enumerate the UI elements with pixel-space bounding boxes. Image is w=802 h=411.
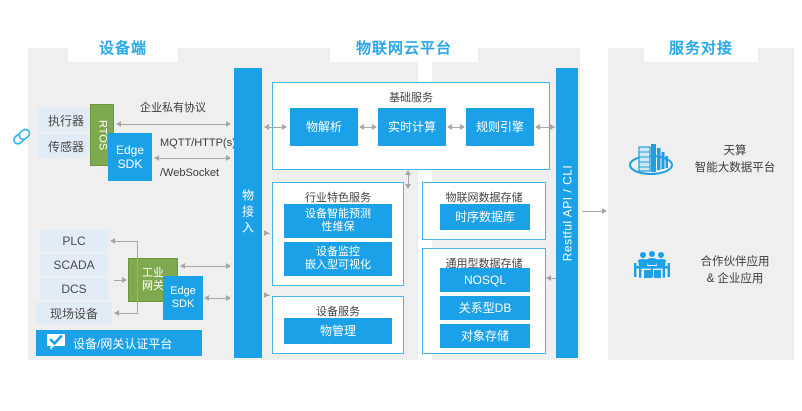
source-dcs[interactable]: DCS xyxy=(40,278,108,300)
edge-sdk-bottom-line1: Edge xyxy=(170,285,196,298)
protocol-mqtt-text: MQTT/HTTP(s) xyxy=(160,137,236,149)
bigdata-server-icon xyxy=(627,139,675,181)
panel-title-platform: 物联网云平台 xyxy=(330,32,478,62)
protocol-websocket-text: /WebSocket xyxy=(160,167,219,179)
partners-meeting-icon xyxy=(630,250,674,284)
line-mqtt-protocol xyxy=(156,158,230,159)
architecture-diagram: 设备端 物联网云平台 服务对接 执行器 传感器 RTOS Edge SDK 企业… xyxy=(0,0,802,411)
line-gateway-upper xyxy=(182,266,230,267)
general-storage-item-rdb[interactable]: 关系型DB xyxy=(440,296,530,320)
spacer-platform-service xyxy=(580,40,608,370)
basic-service-item-parse[interactable]: 物解析 xyxy=(290,108,358,146)
line-bracket-vertical xyxy=(137,241,138,314)
arrow-gateway-lower-left xyxy=(204,295,209,301)
source-field-device-label: 现场设备 xyxy=(50,305,98,322)
industry-service-item-monitor[interactable]: 设备监控 嵌入型可视化 xyxy=(284,242,392,276)
arrow-basic-to-lower-up xyxy=(405,170,411,175)
edge-sdk-top-line2: SDK xyxy=(118,157,143,171)
basic-service-item-realtime-label: 实时计算 xyxy=(388,120,436,134)
rtos-label: RTOS xyxy=(96,120,109,150)
panel-title-service: 服务对接 xyxy=(644,32,758,62)
ingress-bar-label: 物接入 xyxy=(240,189,257,237)
service-partners-line1: 合作伙伴应用 xyxy=(676,254,794,271)
protocol-private-text: 企业私有协议 xyxy=(140,102,206,114)
ingress-bar[interactable]: 物接入 xyxy=(234,68,262,358)
basic-service-item-parse-label: 物解析 xyxy=(306,120,342,134)
iot-storage-title: 物联网数据存储 xyxy=(423,189,545,205)
protocol-websocket-label: /WebSocket xyxy=(160,167,219,179)
industrial-gateway-line2: 网关 xyxy=(142,280,164,293)
iot-storage-item-tsdb[interactable]: 时序数据库 xyxy=(440,204,530,230)
check-bubble-icon xyxy=(46,333,66,354)
service-bigdata-line2: 智能大数据平台 xyxy=(676,160,794,177)
endpoint-actuator-label: 执行器 xyxy=(48,112,84,129)
arrow-mqtt-left xyxy=(154,155,159,161)
endpoint-sensor-label: 传感器 xyxy=(48,138,84,155)
protocol-private-label: 企业私有协议 xyxy=(140,99,206,115)
general-storage-item-object-label: 对象存储 xyxy=(461,329,509,343)
panel-service xyxy=(608,48,794,360)
panel-title-service-label: 服务对接 xyxy=(669,37,733,58)
industry-service-item-predict-line1: 设备智能预测 xyxy=(305,208,371,221)
device-service-item-thing-mgmt-label: 物管理 xyxy=(320,324,356,338)
industrial-gateway-line1: 工业 xyxy=(142,267,164,280)
source-scada-label: SCADA xyxy=(53,258,94,272)
arrow-realtime-rule-right xyxy=(460,124,465,130)
device-auth-platform-label: 设备/网关认证平台 xyxy=(73,335,172,352)
device-service-title: 设备服务 xyxy=(273,303,403,319)
arrow-parse-realtime-right xyxy=(372,124,377,130)
arrow-ingress-basic-right xyxy=(282,124,287,130)
service-partners-line2: & 企业应用 xyxy=(676,271,794,288)
arrow-parse-realtime-left xyxy=(359,124,364,130)
basic-service-item-rule-label: 规则引擎 xyxy=(476,120,524,134)
arrow-private-left xyxy=(116,121,121,127)
line-private-protocol xyxy=(118,124,230,125)
arrow-plc-left xyxy=(110,238,115,244)
service-bigdata-line1: 天算 xyxy=(676,143,794,160)
iot-storage-item-tsdb-label: 时序数据库 xyxy=(455,210,515,224)
panel-title-device-label: 设备端 xyxy=(99,37,147,58)
protocol-mqtt-label: MQTT/HTTP(s) xyxy=(160,137,236,149)
arrow-ingress-device-service xyxy=(264,292,269,298)
device-service-item-thing-mgmt[interactable]: 物管理 xyxy=(284,318,392,344)
panel-title-device: 设备端 xyxy=(68,32,178,62)
arrow-bracket-to-gateway xyxy=(122,277,127,283)
cloud-link-icon xyxy=(10,126,34,148)
industry-service-item-predict[interactable]: 设备智能预测 性维保 xyxy=(284,204,392,238)
arrow-egress-service xyxy=(602,208,607,214)
device-auth-platform-bar[interactable]: 设备/网关认证平台 xyxy=(36,330,202,356)
arrow-basic-egress-right xyxy=(550,124,555,130)
industry-service-title: 行业特色服务 xyxy=(273,189,403,205)
edge-sdk-bottom-box[interactable]: Edge SDK xyxy=(163,276,203,320)
endpoint-actuator[interactable]: 执行器 xyxy=(38,108,94,132)
industry-service-item-monitor-line2: 嵌入型可视化 xyxy=(305,259,371,272)
arrow-basic-egress-left xyxy=(535,124,540,130)
arrow-gateway-upper-right xyxy=(226,263,231,269)
edge-sdk-top-box[interactable]: Edge SDK xyxy=(108,133,152,181)
industry-service-item-monitor-line1: 设备监控 xyxy=(316,246,360,259)
service-partners-text: 合作伙伴应用 & 企业应用 xyxy=(676,254,794,287)
source-scada[interactable]: SCADA xyxy=(40,254,108,276)
service-bigdata-text: 天算 智能大数据平台 xyxy=(676,143,794,176)
arrow-storage-egress-left xyxy=(546,275,551,281)
arrow-gateway-upper-left xyxy=(180,263,185,269)
edge-sdk-top-line1: Edge xyxy=(116,143,144,157)
line-plc-bracket xyxy=(114,241,138,242)
general-storage-item-rdb-label: 关系型DB xyxy=(459,301,512,315)
arrow-field-left xyxy=(114,310,119,316)
industry-service-item-predict-line2: 性维保 xyxy=(322,221,355,234)
source-plc[interactable]: PLC xyxy=(40,230,108,252)
arrow-ingress-industry xyxy=(264,230,269,236)
source-plc-label: PLC xyxy=(62,234,85,248)
spacer-left xyxy=(0,40,28,370)
general-storage-item-nosql[interactable]: NOSQL xyxy=(440,268,530,292)
arrow-private-right xyxy=(226,121,231,127)
egress-bar[interactable]: Restful API / CLI xyxy=(556,68,578,358)
arrow-mqtt-right xyxy=(226,155,231,161)
basic-service-item-rule[interactable]: 规则引擎 xyxy=(466,108,534,146)
edge-sdk-bottom-line2: SDK xyxy=(172,298,195,311)
endpoint-sensor[interactable]: 传感器 xyxy=(38,134,94,158)
arrow-ingress-basic-left xyxy=(264,124,269,130)
arrow-gateway-lower-right xyxy=(226,295,231,301)
arrow-basic-to-lower-down xyxy=(405,184,411,189)
general-storage-item-nosql-label: NOSQL xyxy=(464,273,506,287)
arrow-realtime-rule-left xyxy=(447,124,452,130)
line-field-bracket xyxy=(118,313,138,314)
general-storage-item-object[interactable]: 对象存储 xyxy=(440,324,530,348)
basic-service-title: 基础服务 xyxy=(273,89,549,105)
basic-service-item-realtime[interactable]: 实时计算 xyxy=(378,108,446,146)
source-field-device[interactable]: 现场设备 xyxy=(36,302,112,324)
egress-bar-label: Restful API / CLI xyxy=(560,165,574,262)
panel-title-platform-label: 物联网云平台 xyxy=(356,37,452,58)
source-dcs-label: DCS xyxy=(61,282,86,296)
